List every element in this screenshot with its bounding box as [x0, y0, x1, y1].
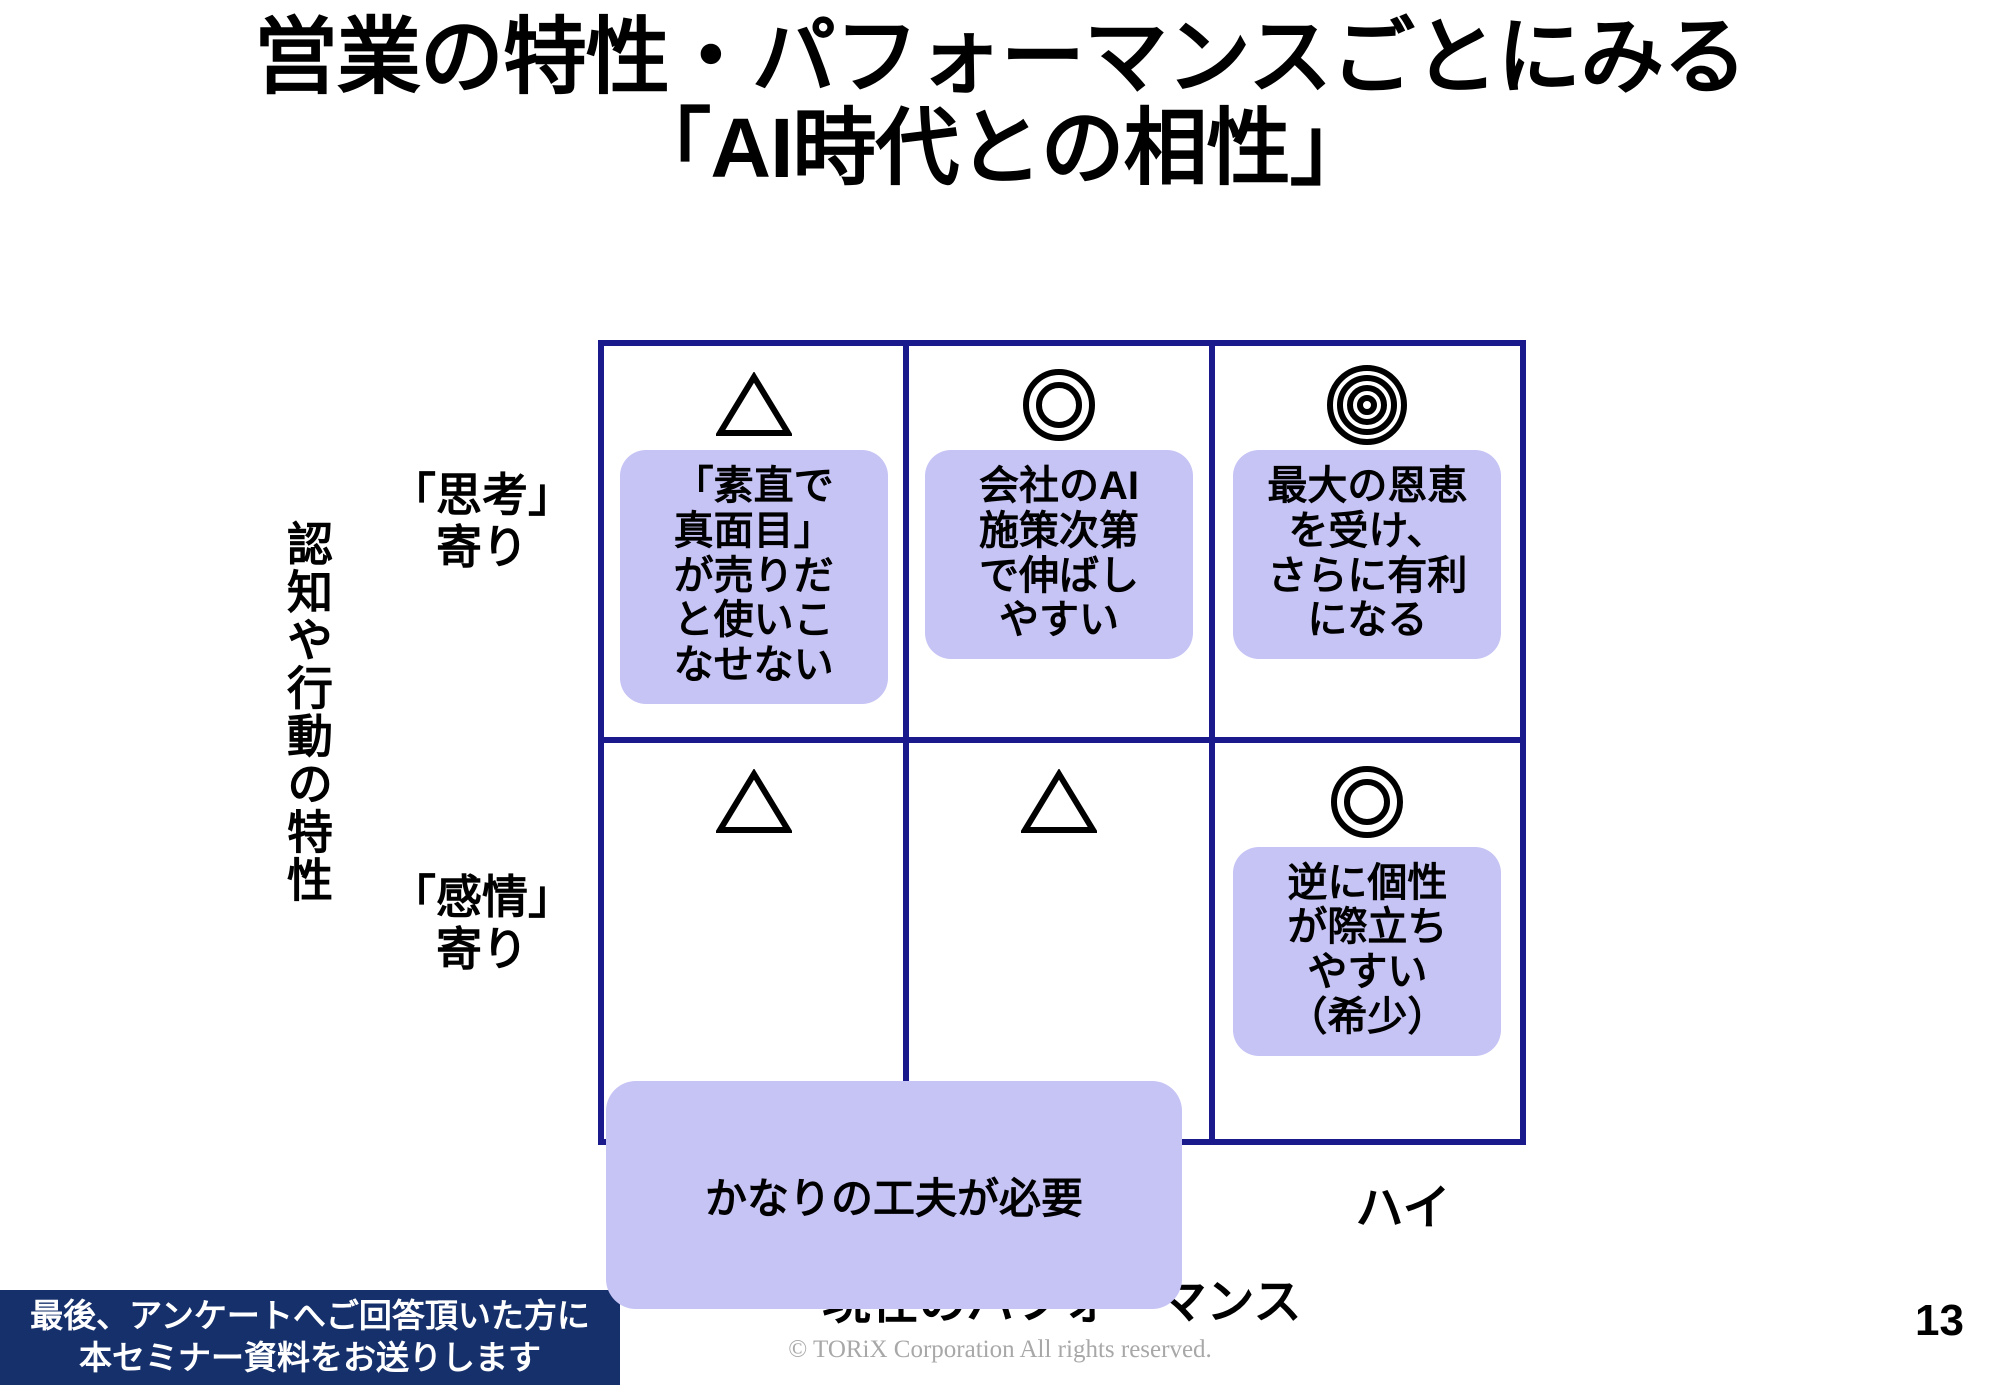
page-number: 13: [1915, 1296, 1964, 1346]
matrix-note-high-emotion: 逆に個性 が際立ち やすい （希少）: [1233, 847, 1501, 1056]
note-line: で伸ばし: [935, 554, 1183, 599]
note-line: 「素直で: [630, 464, 878, 509]
matrix-cell-middle-emotion: [909, 743, 1214, 1140]
note-line: 最大の恩恵: [1243, 464, 1491, 509]
matrix-cell-high-emotion: 逆に個性 が際立ち やすい （希少）: [1215, 743, 1520, 1140]
matrix-cell-low-thinking: 「素直で 真面目」 が売りだ と使いこ なせない: [604, 346, 909, 743]
title-line-2: 「AI時代との相性」: [0, 103, 2000, 194]
note-line: やすい: [935, 598, 1183, 643]
note-line: さらに有利: [1243, 554, 1491, 599]
matrix-note-high-thinking: 最大の恩恵 を受け、 さらに有利 になる: [1233, 450, 1501, 659]
note-line: が際立ち: [1243, 905, 1491, 950]
note-line: が売りだ: [630, 554, 878, 599]
matrix-note-low-middle-emotion: かなりの工夫が必要: [606, 1081, 1182, 1309]
matrix-cell-high-thinking: 最大の恩恵 を受け、 さらに有利 になる: [1215, 346, 1520, 743]
row-label-emotion-line-1: 「感情」: [382, 872, 582, 924]
copyright-text: © TORiX Corporation All rights reserved.: [0, 1336, 2000, 1364]
row-label-thinking-line-2: 寄り: [382, 522, 582, 574]
note-line: 会社のAI: [935, 464, 1183, 509]
triangle-mark-icon: [1021, 759, 1097, 845]
matrix-note-middle-thinking: 会社のAI 施策次第 で伸ばし やすい: [925, 450, 1193, 659]
note-line: 真面目」: [630, 509, 878, 554]
survey-banner-line-1: 最後、アンケートへご回答頂いた方に: [0, 1295, 620, 1337]
y-axis-title: 認知や行動の特性: [268, 520, 330, 904]
row-label-emotion-line-2: 寄り: [382, 924, 582, 976]
matrix-cell-middle-thinking: 会社のAI 施策次第 で伸ばし やすい: [909, 346, 1214, 743]
row-label-thinking: 「思考」 寄り: [382, 470, 582, 573]
col-label-high: ハイ: [1248, 1168, 1558, 1238]
double-circle-mark-icon: [1329, 759, 1405, 845]
compatibility-matrix: 「素直で 真面目」 が売りだ と使いこ なせない 会社のAI 施策次第 で伸ばし…: [598, 340, 1526, 1145]
row-label-thinking-line-1: 「思考」: [382, 470, 582, 522]
note-line: 逆に個性: [1243, 861, 1491, 906]
note-line: やすい: [1243, 950, 1491, 995]
bullseye-mark-icon: [1326, 362, 1408, 448]
note-line: 施策次第: [935, 509, 1183, 554]
note-line: なせない: [630, 643, 878, 688]
page-title: 営業の特性・パフォーマンスごとにみる 「AI時代との相性」: [0, 12, 2000, 193]
note-line: になる: [1243, 598, 1491, 643]
slide: 営業の特性・パフォーマンスごとにみる 「AI時代との相性」 認知や行動の特性 「…: [0, 0, 2000, 1385]
matrix-note-low-thinking: 「素直で 真面目」 が売りだ と使いこ なせない: [620, 450, 888, 704]
triangle-mark-icon: [716, 362, 792, 448]
note-line: （希少）: [1243, 995, 1491, 1040]
triangle-mark-icon: [716, 759, 792, 845]
matrix-cell-low-emotion: [604, 743, 909, 1140]
note-line: を受け、: [1243, 509, 1491, 554]
title-line-1: 営業の特性・パフォーマンスごとにみる: [0, 12, 2000, 103]
double-circle-mark-icon: [1021, 362, 1097, 448]
note-line: と使いこ: [630, 598, 878, 643]
row-label-emotion: 「感情」 寄り: [382, 872, 582, 975]
